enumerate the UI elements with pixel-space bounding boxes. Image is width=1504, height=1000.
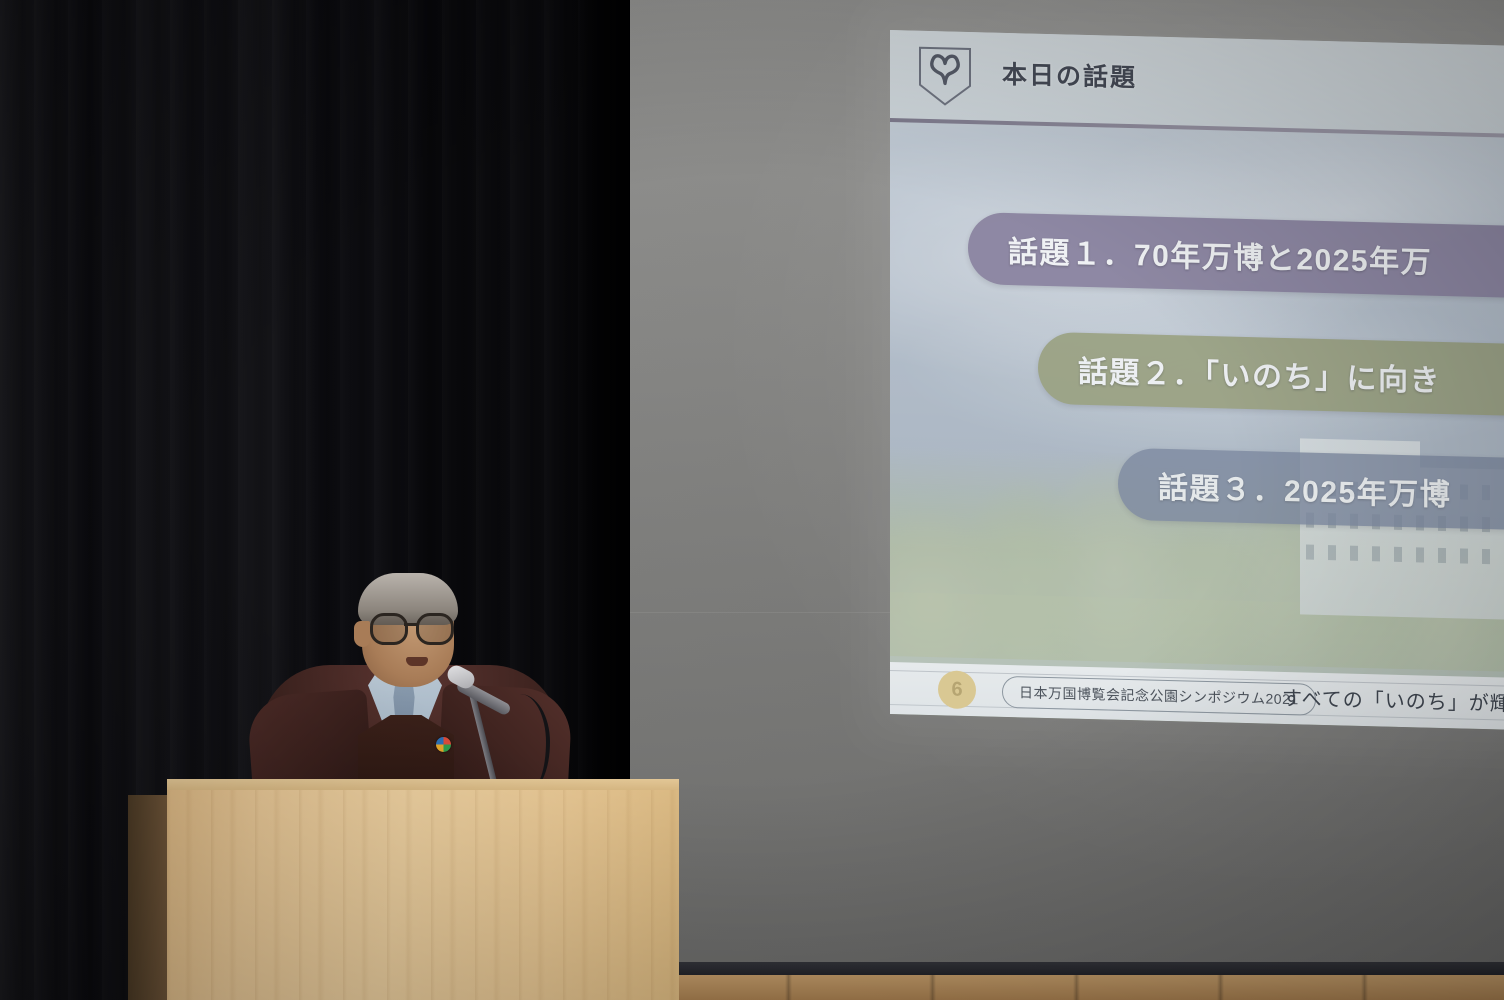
podium-front-panel <box>167 790 679 1000</box>
speaker-mouth <box>406 657 428 666</box>
stage-floor <box>645 975 1504 1000</box>
speaker-glasses-icon <box>368 613 456 639</box>
slide-page-number: 6 <box>938 670 976 709</box>
symposium-tag: 日本万国博覧会記念公園シンポジウム2021 <box>1002 676 1316 716</box>
footer-tagline: すべての「いのち」が輝 <box>1282 682 1504 717</box>
sdgs-lapel-pin-icon <box>436 737 451 752</box>
slide-topic-3-label: 話題３．2025年万博 <box>1158 463 1451 514</box>
expo70-park-shield-logo-icon <box>916 45 974 108</box>
podium-side-panel <box>128 795 170 1000</box>
slide-topic-2-label: 話題２．「いのち」に向き <box>1078 347 1441 400</box>
slide-title: 本日の話題 <box>1002 55 1137 94</box>
conference-photo-scene: 本日の話題 話題１．70年万博と2025年万 話題２．「いのち」に向き 話題３．… <box>0 0 1504 1000</box>
projected-slide: 本日の話題 話題１．70年万博と2025年万 話題２．「いのち」に向き 話題３．… <box>890 30 1504 731</box>
slide-topic-1-label: 話題１．70年万博と2025年万 <box>1008 227 1432 282</box>
